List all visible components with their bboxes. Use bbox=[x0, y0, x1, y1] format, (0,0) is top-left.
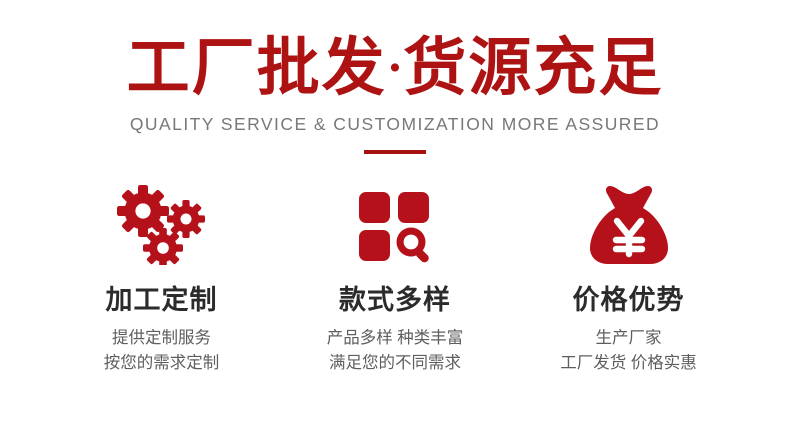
feature-description: 生产厂家 工厂发货 价格实惠 bbox=[560, 326, 697, 375]
feature-title: 款式多样 bbox=[339, 278, 451, 317]
feature-item-processing-customization: 加工定制 提供定制服务 按您的需求定制 bbox=[45, 184, 278, 375]
feature-line: 提供定制服务 bbox=[104, 326, 220, 350]
feature-list: 加工定制 提供定制服务 按您的需求定制 bbox=[45, 184, 745, 375]
headline-block: 工厂批发·货源充足 QUALITY SERVICE & CUSTOMIZATIO… bbox=[0, 0, 790, 154]
feature-description: 提供定制服务 按您的需求定制 bbox=[104, 326, 220, 375]
headline-text-second: 货源充足 bbox=[403, 33, 663, 103]
title-divider bbox=[364, 150, 426, 154]
feature-line: 按您的需求定制 bbox=[104, 351, 220, 375]
feature-description: 产品多样 种类丰富 满足您的不同需求 bbox=[327, 326, 464, 375]
feature-line: 生产厂家 bbox=[560, 326, 697, 350]
promo-banner: 工厂批发·货源充足 QUALITY SERVICE & CUSTOMIZATIO… bbox=[0, 0, 790, 445]
feature-line: 满足您的不同需求 bbox=[327, 351, 464, 375]
feature-item-style-variety: 款式多样 产品多样 种类丰富 满足您的不同需求 bbox=[279, 184, 512, 375]
headline-separator-dot: · bbox=[387, 39, 404, 95]
feature-item-price-advantage: 价格优势 生产厂家 工厂发货 价格实惠 bbox=[512, 184, 745, 375]
gears-icon bbox=[110, 185, 214, 265]
feature-line: 工厂发货 价格实惠 bbox=[560, 351, 697, 375]
feature-icon-wrap bbox=[354, 184, 436, 266]
grid-search-icon bbox=[354, 185, 436, 265]
feature-title: 加工定制 bbox=[106, 278, 218, 317]
feature-line: 产品多样 种类丰富 bbox=[327, 326, 464, 350]
feature-icon-wrap bbox=[110, 184, 214, 266]
feature-title: 价格优势 bbox=[573, 278, 685, 317]
money-bag-yuan-icon bbox=[584, 182, 674, 268]
feature-icon-wrap bbox=[584, 184, 674, 266]
page-title: 工厂批发·货源充足 bbox=[0, 36, 790, 100]
magnifier-shape bbox=[397, 228, 431, 265]
subtitle: QUALITY SERVICE & CUSTOMIZATION MORE ASS… bbox=[0, 114, 790, 135]
headline-text-first: 工厂批发 bbox=[127, 33, 387, 103]
